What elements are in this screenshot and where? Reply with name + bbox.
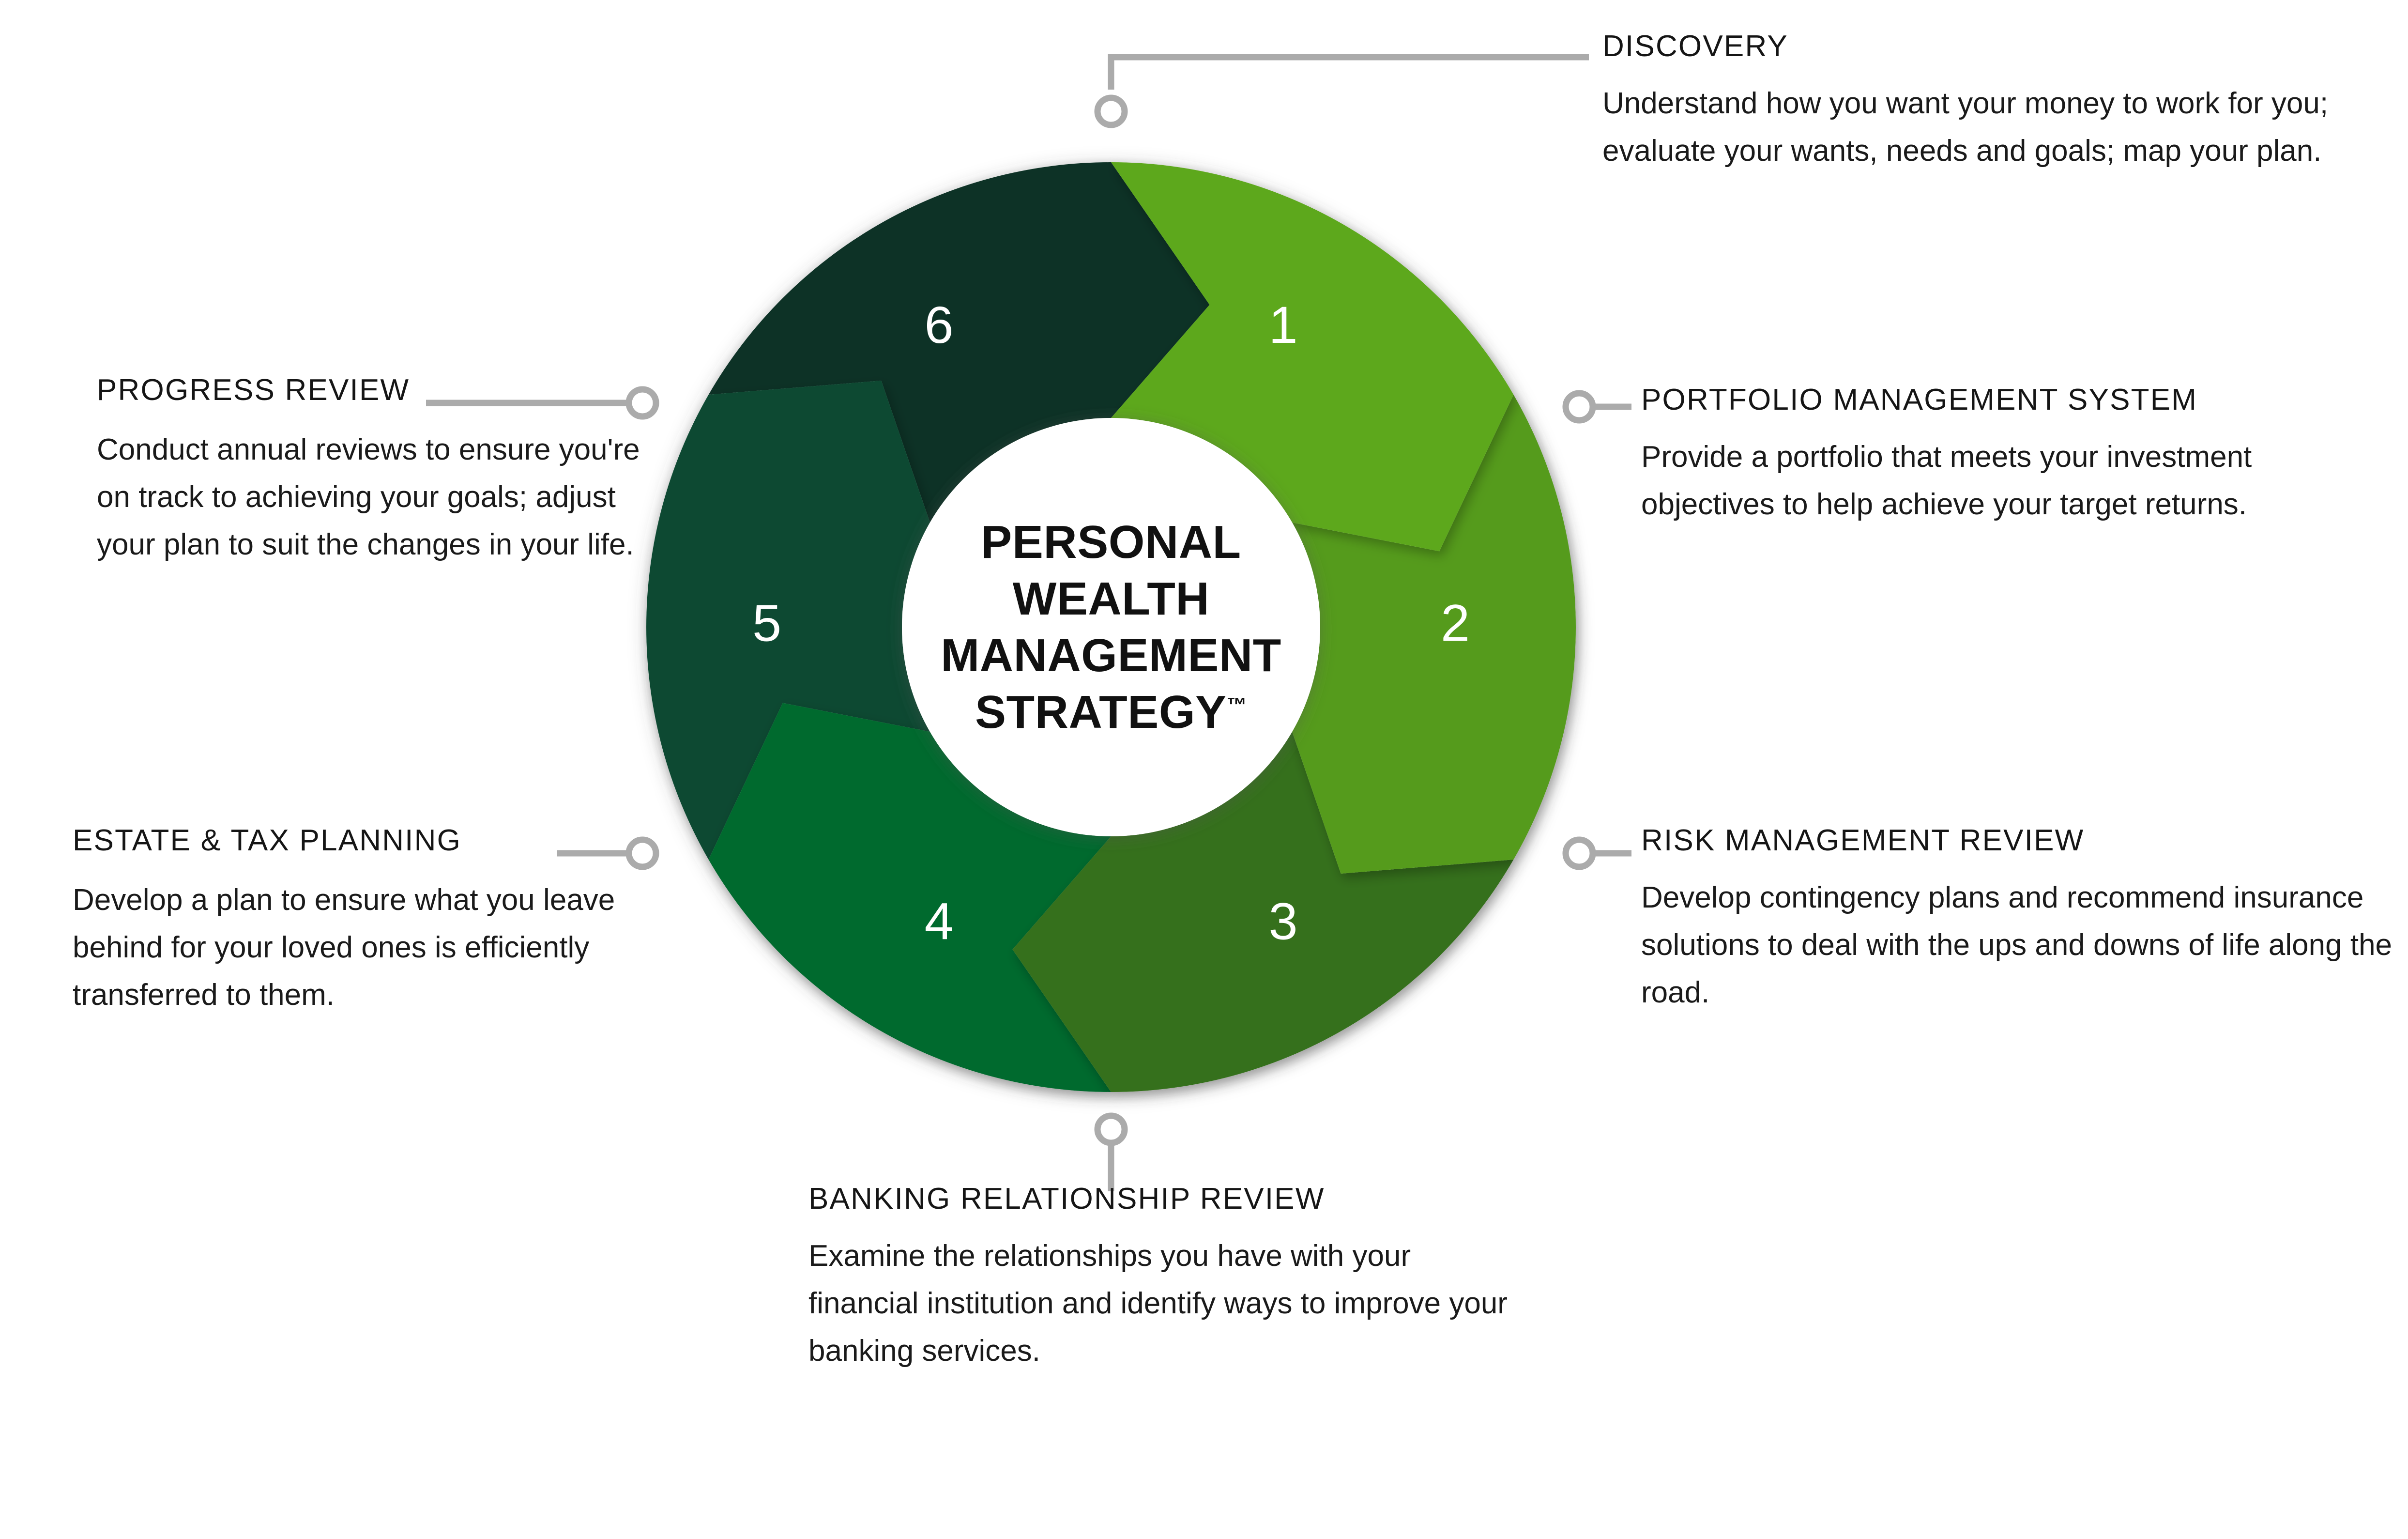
callout-estate-title: ESTATE & TAX PLANNING xyxy=(73,823,461,858)
segment-number-2: 2 xyxy=(1441,594,1470,652)
segment-number-3: 3 xyxy=(1268,892,1297,950)
process-wheel: 123456 xyxy=(620,136,1602,1119)
connector-dot-discovery xyxy=(1097,98,1125,125)
callout-progress-body: Conduct annual reviews to ensure you're … xyxy=(97,426,678,569)
callout-banking-body: Examine the relationships you have with … xyxy=(808,1232,1525,1375)
callout-discovery[interactable]: DISCOVERY Understand how you want your m… xyxy=(1602,29,2329,175)
callout-progress[interactable]: PROGRESS REVIEW Conduct annual reviews t… xyxy=(97,373,678,569)
callout-risk[interactable]: RISK MANAGEMENT REVIEW Develop contingen… xyxy=(1641,823,2396,1016)
connector-line-discovery xyxy=(1111,57,1589,90)
callout-portfolio[interactable]: PORTFOLIO MANAGEMENT SYSTEM Provide a po… xyxy=(1641,383,2377,528)
callout-banking-title: BANKING RELATIONSHIP REVIEW xyxy=(808,1182,1525,1216)
callout-risk-title: RISK MANAGEMENT REVIEW xyxy=(1641,823,2396,858)
callout-banking[interactable]: BANKING RELATIONSHIP REVIEW Examine the … xyxy=(808,1182,1525,1375)
callout-discovery-body: Understand how you want your money to wo… xyxy=(1602,80,2329,175)
segment-number-1: 1 xyxy=(1268,295,1297,354)
callout-progress-title: PROGRESS REVIEW xyxy=(97,373,410,407)
callout-portfolio-title: PORTFOLIO MANAGEMENT SYSTEM xyxy=(1641,383,2377,417)
callout-risk-body: Develop contingency plans and recommend … xyxy=(1641,874,2396,1016)
callout-portfolio-body: Provide a portfolio that meets your inve… xyxy=(1641,433,2377,528)
callout-estate[interactable]: ESTATE & TAX PLANNING Develop a plan to … xyxy=(73,823,683,1019)
connector-dot-banking xyxy=(1097,1116,1125,1143)
callout-discovery-title: DISCOVERY xyxy=(1602,29,2329,63)
wheel-hub xyxy=(902,418,1320,836)
wheel-svg: 123456 xyxy=(620,136,1602,1119)
segment-number-5: 5 xyxy=(752,594,781,652)
infographic-canvas: 123456 PERSONAL WEALTH MANAGEMENT STRATE… xyxy=(0,0,2408,1539)
segment-number-4: 4 xyxy=(924,892,953,950)
callout-estate-body: Develop a plan to ensure what you leave … xyxy=(73,877,683,1019)
segment-number-6: 6 xyxy=(924,295,953,354)
